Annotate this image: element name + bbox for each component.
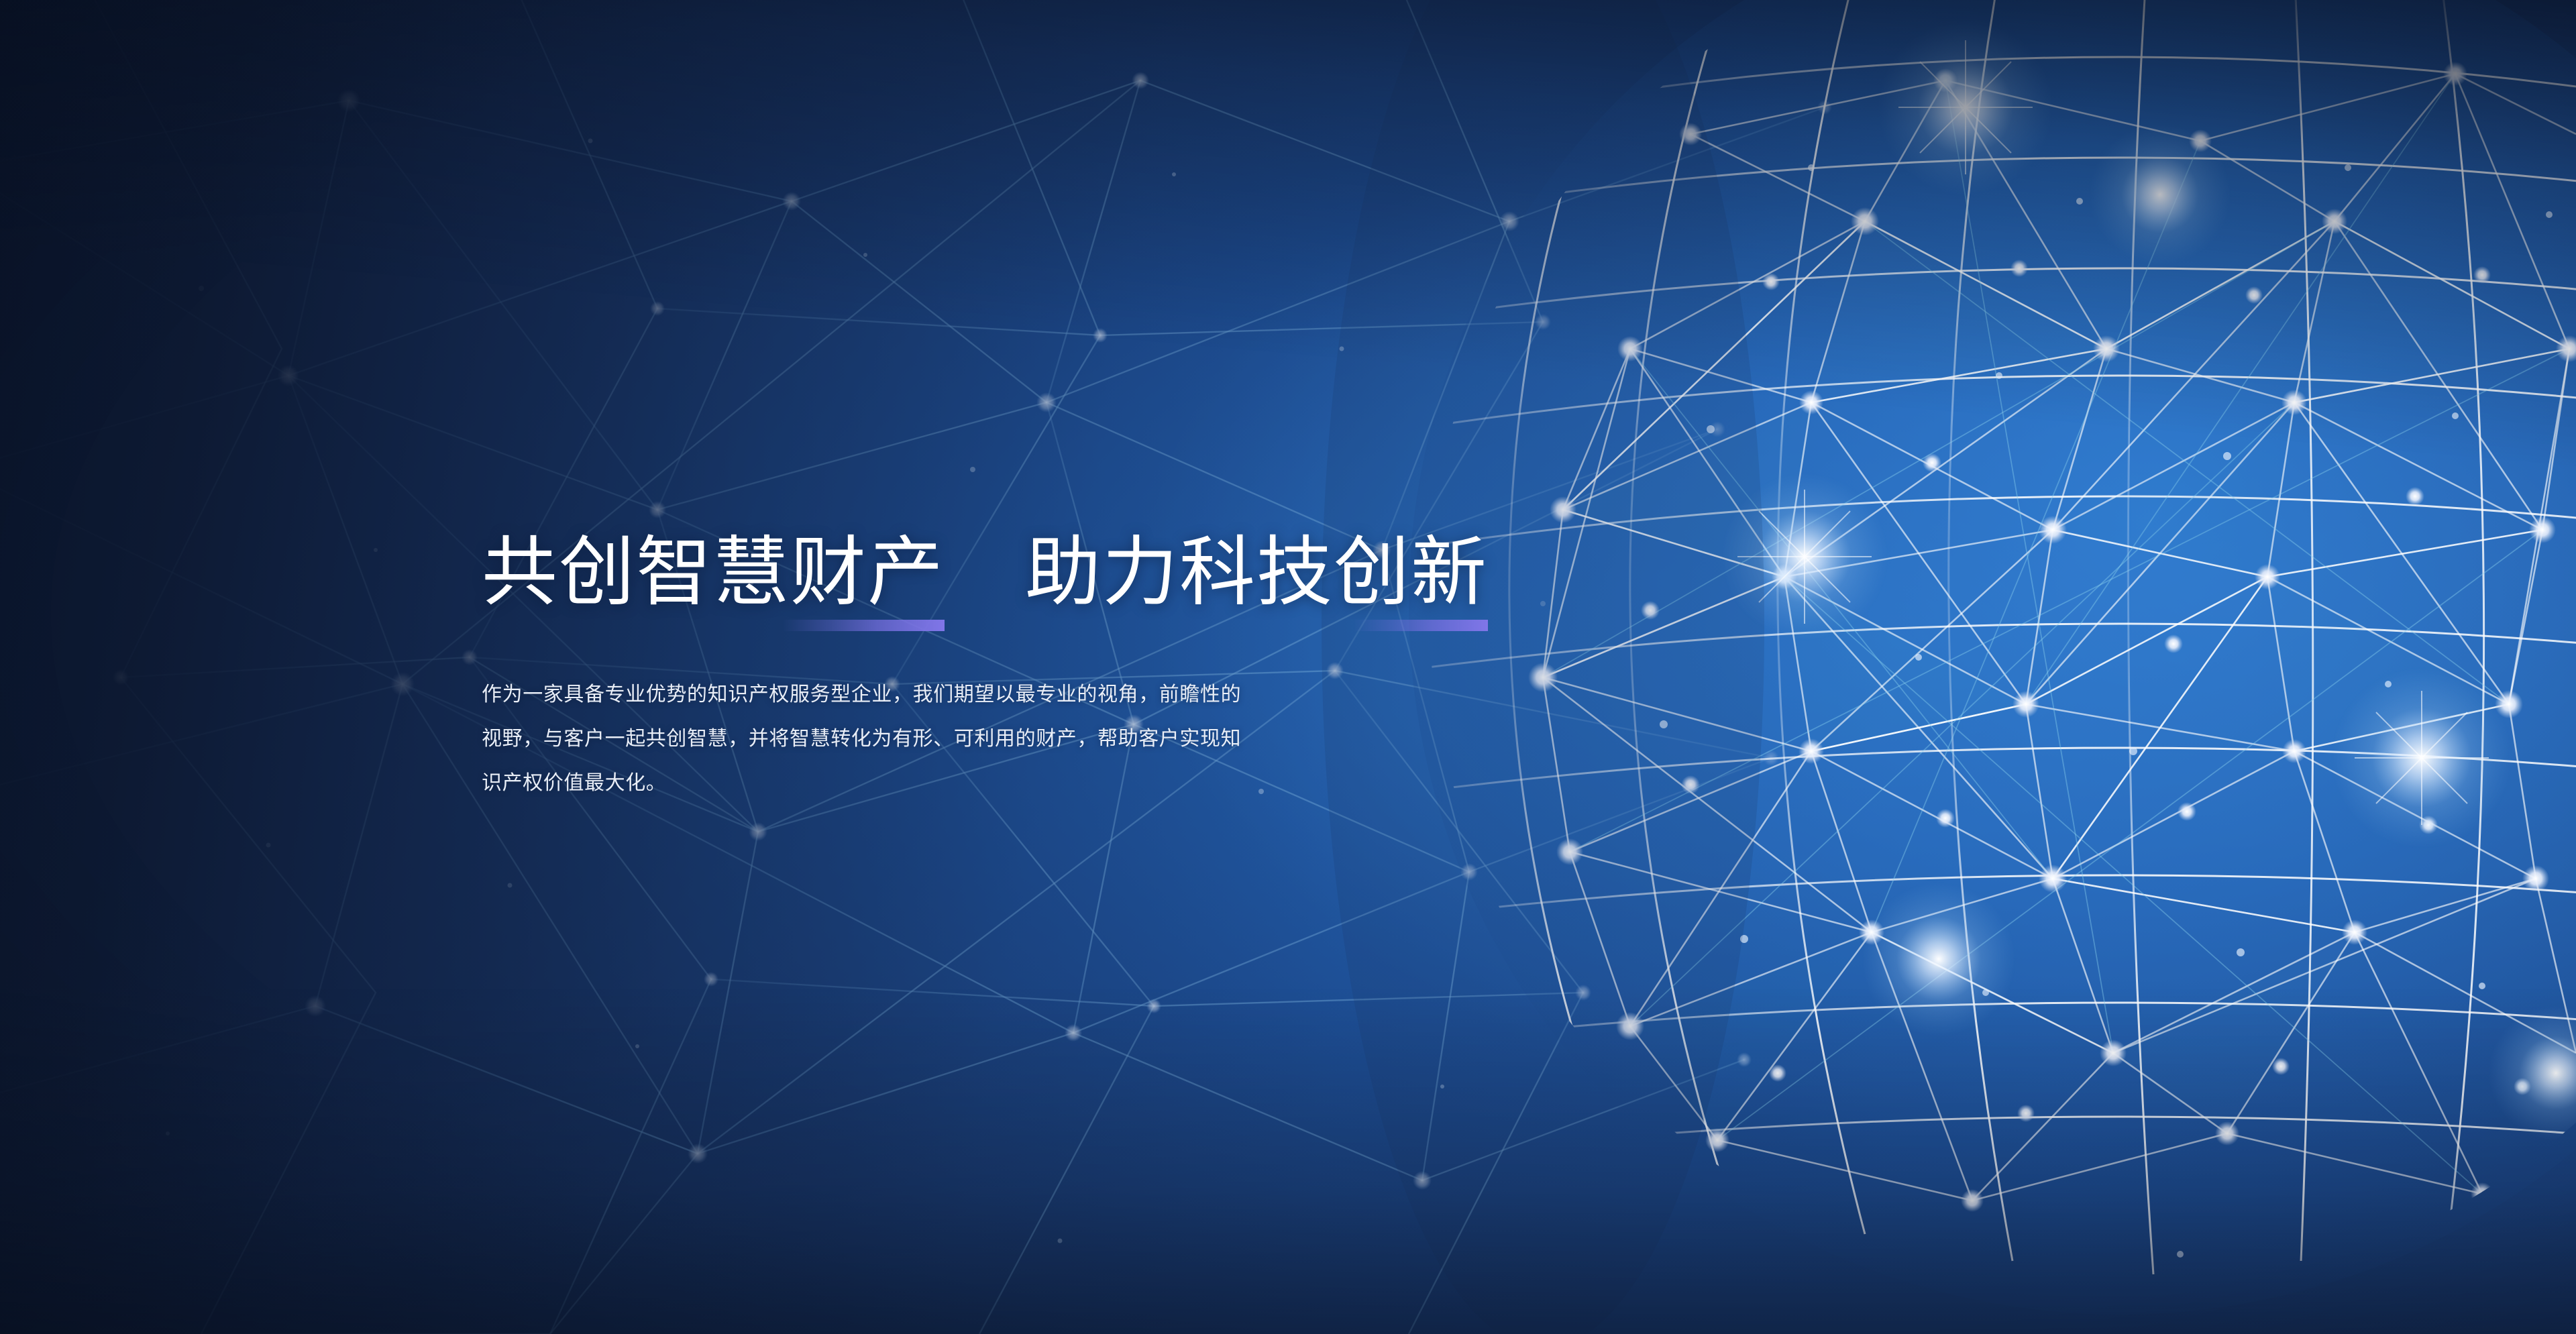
headline-segment-one-label: 共创智慧财产	[482, 530, 945, 615]
headline-segment-one: 共创智慧财产	[482, 530, 945, 615]
page-title: 共创智慧财产 助力科技创新	[482, 530, 1488, 615]
headline-accent-underline-one	[782, 620, 945, 631]
headline-segment-two-label: 助力科技创新	[1025, 530, 1488, 615]
hero-description: 作为一家具备专业优势的知识产权服务型企业，我们期望以最专业的视角，前瞻性的视野，…	[482, 673, 1258, 805]
headline-accent-underline-two	[1354, 620, 1488, 631]
headline-segment-two: 助力科技创新	[1025, 530, 1488, 615]
hero-text-block: 共创智慧财产 助力科技创新 作为一家具备专业优势的知识产权服务型企业，我们期望以…	[482, 530, 1488, 826]
banner-hero: 共创智慧财产 助力科技创新 作为一家具备专业优势的知识产权服务型企业，我们期望以…	[0, 0, 2576, 1334]
